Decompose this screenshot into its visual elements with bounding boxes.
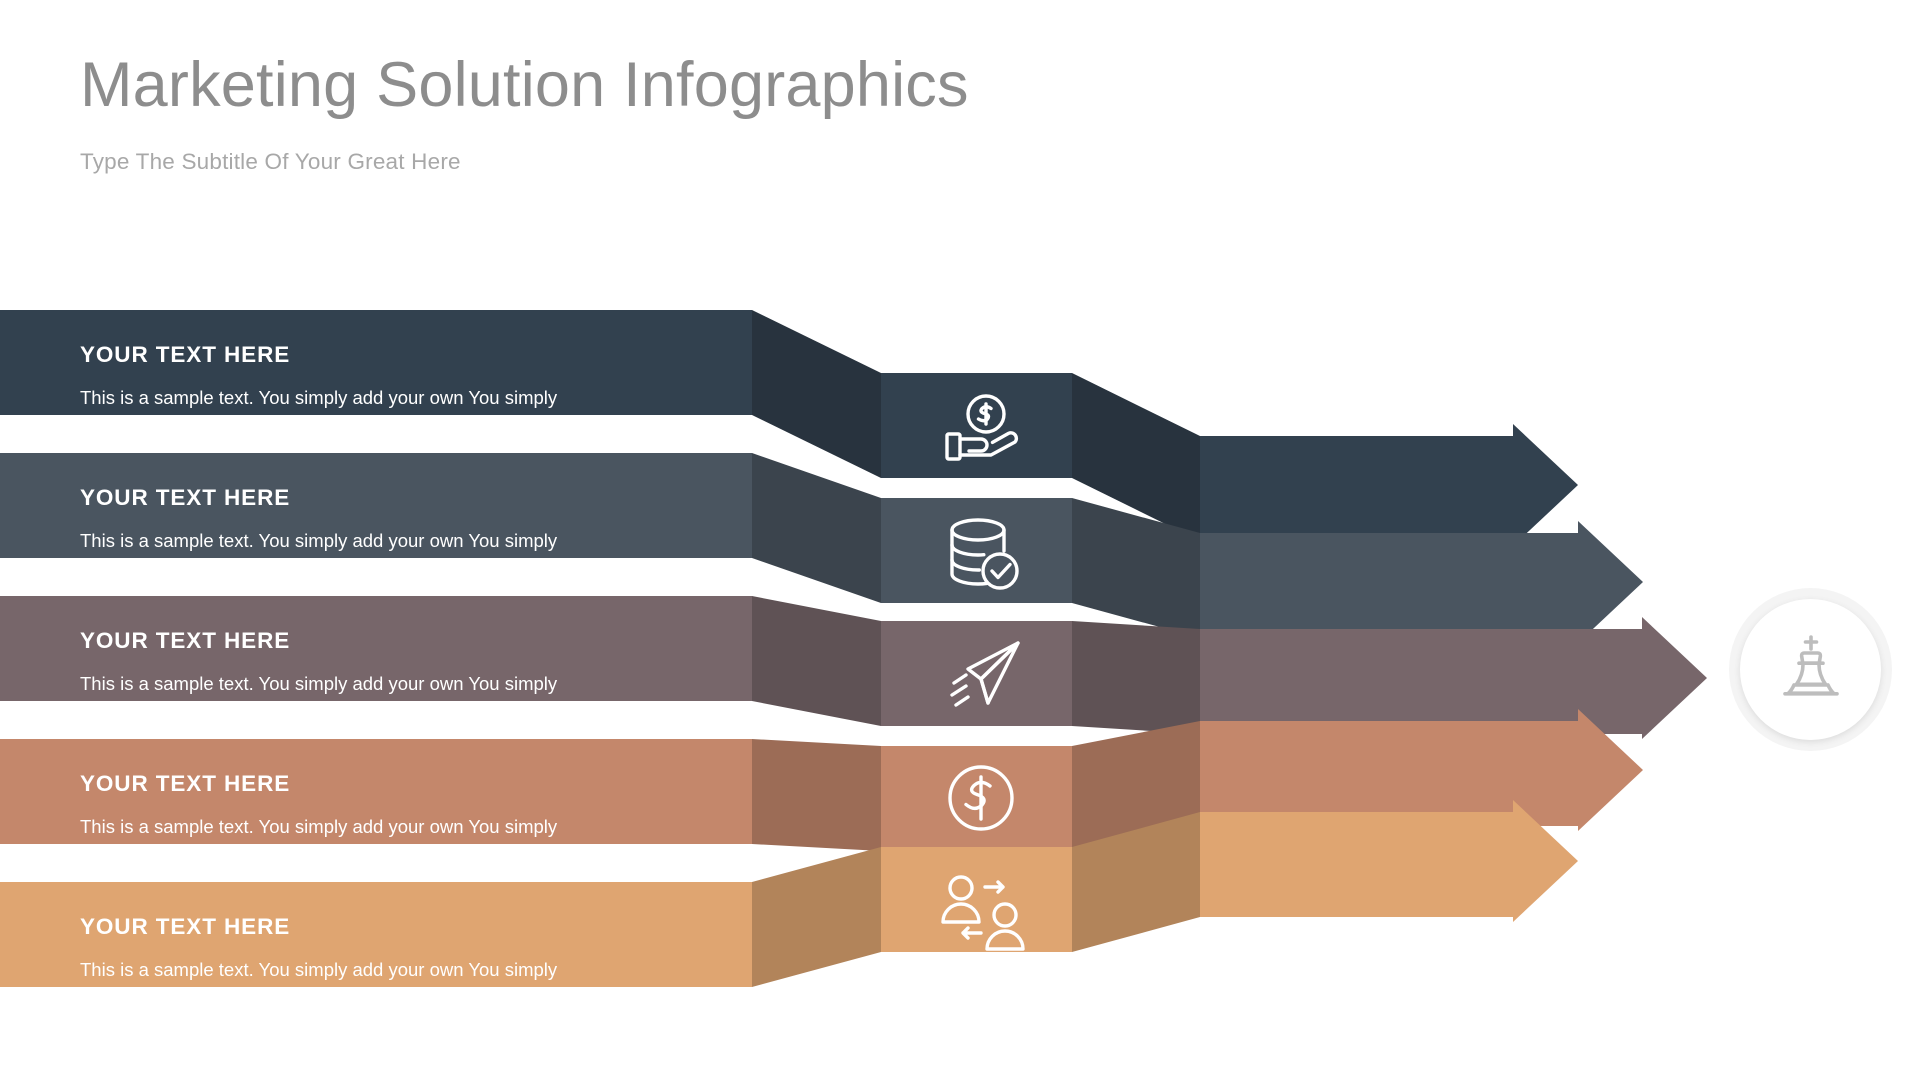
row-2-icon-panel[interactable]	[881, 498, 1072, 603]
row-5-label-band[interactable]	[0, 882, 752, 987]
row-1-arrow-glyph[interactable]	[1200, 424, 1578, 546]
slide-canvas: Marketing Solution Infographics Type The…	[0, 0, 1920, 1080]
row-4-fold-left	[752, 739, 881, 851]
row-3-arrow-glyph[interactable]	[1200, 617, 1707, 739]
row-3-fold-right	[1072, 621, 1200, 734]
row-2-arrow-glyph[interactable]	[1200, 521, 1643, 643]
row-5-icon-panel[interactable]	[881, 847, 1072, 952]
row-5-fold-left	[752, 847, 881, 987]
row-2-label-band[interactable]	[0, 453, 752, 558]
row-1-label-band[interactable]	[0, 310, 752, 415]
ribbon-diagram	[0, 0, 1920, 1080]
row-1-fold-left	[752, 310, 881, 478]
row-3-label-band[interactable]	[0, 596, 752, 701]
row-1-icon-panel[interactable]	[881, 373, 1072, 478]
goal-badge-face	[1740, 599, 1881, 740]
row-5-arrow-glyph[interactable]	[1200, 800, 1578, 922]
row-4-label-band[interactable]	[0, 739, 752, 844]
row-1-arrow-body[interactable]	[1200, 428, 1513, 436]
row-4-icon-panel-fix[interactable]	[881, 746, 1072, 851]
ribbon-svg	[0, 0, 1920, 1080]
chess-king-icon	[1772, 631, 1850, 709]
row-3-fold-left	[752, 596, 881, 726]
row-2-fold-left	[752, 453, 881, 603]
goal-badge[interactable]	[1729, 588, 1892, 751]
